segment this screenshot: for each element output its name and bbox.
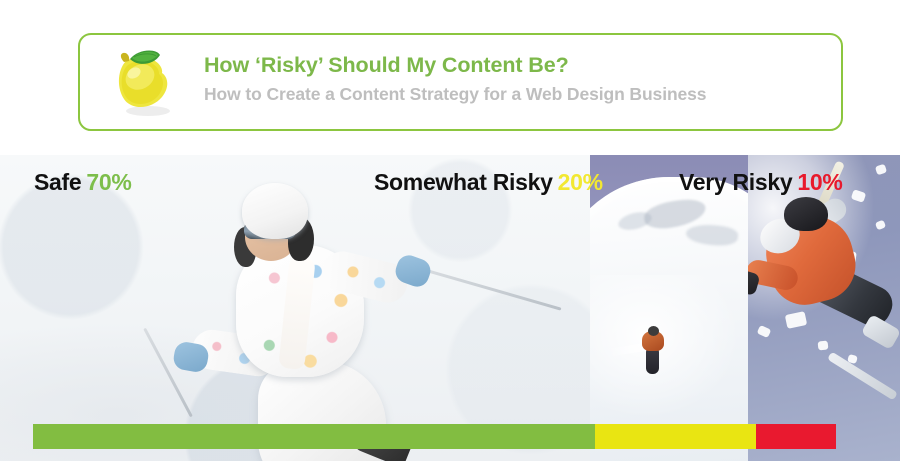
- risk-label-very-risky: Very Risky10%: [679, 169, 843, 196]
- lone-skier-head: [648, 326, 659, 336]
- bar-segment-somewhat-risky: [595, 424, 756, 449]
- bar-segment-safe: [33, 424, 595, 449]
- bar-segment-very-risky: [756, 424, 836, 449]
- risk-labels-row: Safe70% Somewhat Risky20% Very Risky10%: [0, 155, 900, 205]
- risk-label-very-risky-text: Very Risky: [679, 169, 792, 195]
- risk-percent-somewhat-risky: 20%: [558, 169, 603, 195]
- risk-label-somewhat-risky-text: Somewhat Risky: [374, 169, 553, 195]
- page-title: How ‘Risky’ Should My Content Be?: [204, 51, 827, 79]
- risk-label-safe: Safe70%: [34, 169, 132, 196]
- airborne-ski-lower: [827, 352, 898, 401]
- lemon-icon: [112, 49, 178, 119]
- child-skier-figure: [196, 183, 496, 461]
- risk-percent-safe: 70%: [86, 169, 131, 195]
- risk-distribution-bar: [33, 424, 836, 449]
- header-card: How ‘Risky’ Should My Content Be? How to…: [78, 33, 843, 131]
- lone-skier-legs: [646, 348, 659, 374]
- risk-label-safe-text: Safe: [34, 169, 81, 195]
- risk-percent-very-risky: 10%: [797, 169, 842, 195]
- header-text-block: How ‘Risky’ Should My Content Be? How to…: [204, 51, 827, 107]
- lone-skier-figure: [638, 331, 668, 379]
- risk-label-somewhat-risky: Somewhat Risky20%: [374, 169, 603, 196]
- page-subtitle: How to Create a Content Strategy for a W…: [204, 81, 827, 107]
- crashing-skier-figure: [754, 197, 894, 397]
